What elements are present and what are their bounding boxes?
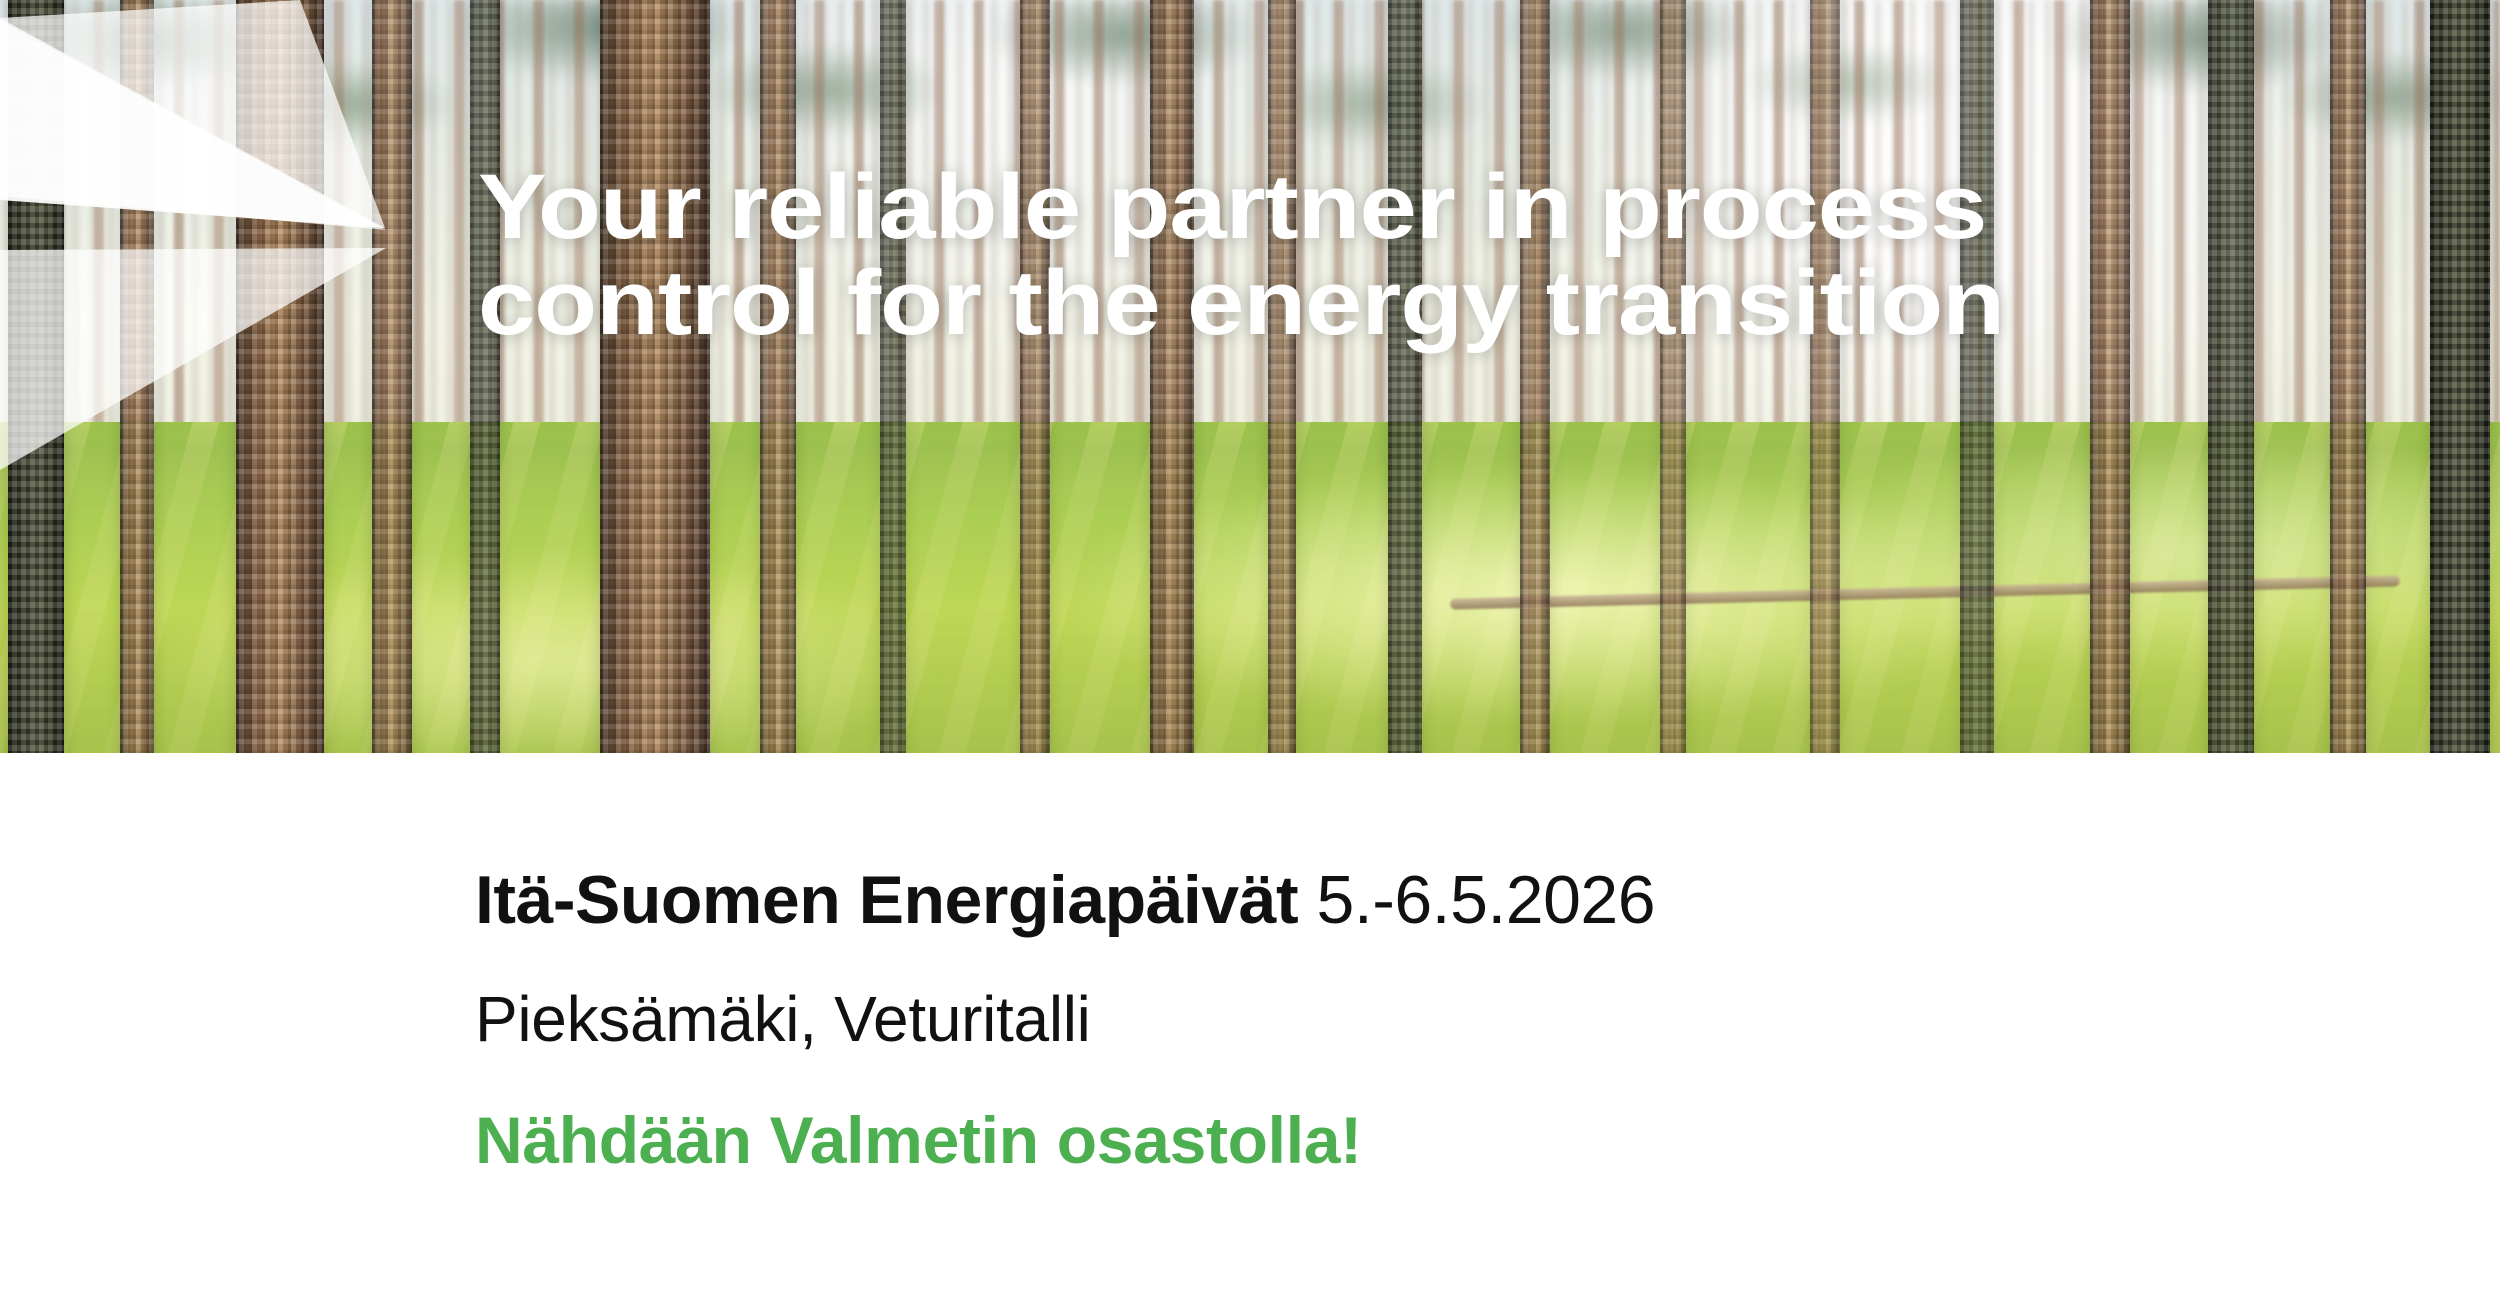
foreground-trunk-12 — [1388, 0, 1422, 753]
event-info-block: Itä-Suomen Energiapäivät 5.-6.5.2026 Pie… — [475, 862, 2375, 1178]
forest-photo — [0, 0, 2500, 753]
foreground-trunk-9 — [1020, 0, 1050, 753]
foreground-trunk-5 — [470, 0, 500, 753]
foreground-trunk-13 — [1520, 0, 1550, 753]
foreground-trunk-1 — [8, 0, 64, 753]
headline-line-2: control for the energy transition — [478, 256, 2449, 352]
hero-image: Your reliable partner in process control… — [0, 0, 2500, 753]
foreground-trunk-11 — [1268, 0, 1296, 753]
foreground-trunk-20 — [2430, 0, 2490, 753]
hero-headline: Your reliable partner in process control… — [478, 160, 2238, 351]
event-date: 5.-6.5.2026 — [1317, 862, 1656, 938]
foreground-trunk-4 — [372, 0, 412, 753]
headline-line-1: Your reliable partner in process — [478, 160, 2449, 256]
foreground-trunk-8 — [880, 0, 906, 753]
foreground-trunk-19 — [2330, 0, 2366, 753]
foreground-trunk-15 — [1810, 0, 1840, 753]
foreground-trunk-6 — [600, 0, 710, 753]
foreground-trunk-14 — [1660, 0, 1686, 753]
foreground-trunk-7 — [760, 0, 796, 753]
foreground-trunk-10 — [1150, 0, 1194, 753]
foreground-trunk-3 — [236, 0, 324, 753]
foreground-trunk-17 — [2090, 0, 2130, 753]
event-title-line: Itä-Suomen Energiapäivät 5.-6.5.2026 — [475, 862, 2375, 938]
foreground-trunk-18 — [2208, 0, 2254, 753]
foreground-trunk-16 — [1960, 0, 1994, 753]
banner-page: Your reliable partner in process control… — [0, 0, 2500, 1308]
event-cta: Nähdään Valmetin osastolla! — [475, 1104, 2375, 1178]
event-name: Itä-Suomen Energiapäivät — [475, 862, 1298, 938]
foreground-trunk-2 — [120, 0, 154, 753]
event-venue: Pieksämäki, Veturitalli — [475, 984, 2375, 1056]
